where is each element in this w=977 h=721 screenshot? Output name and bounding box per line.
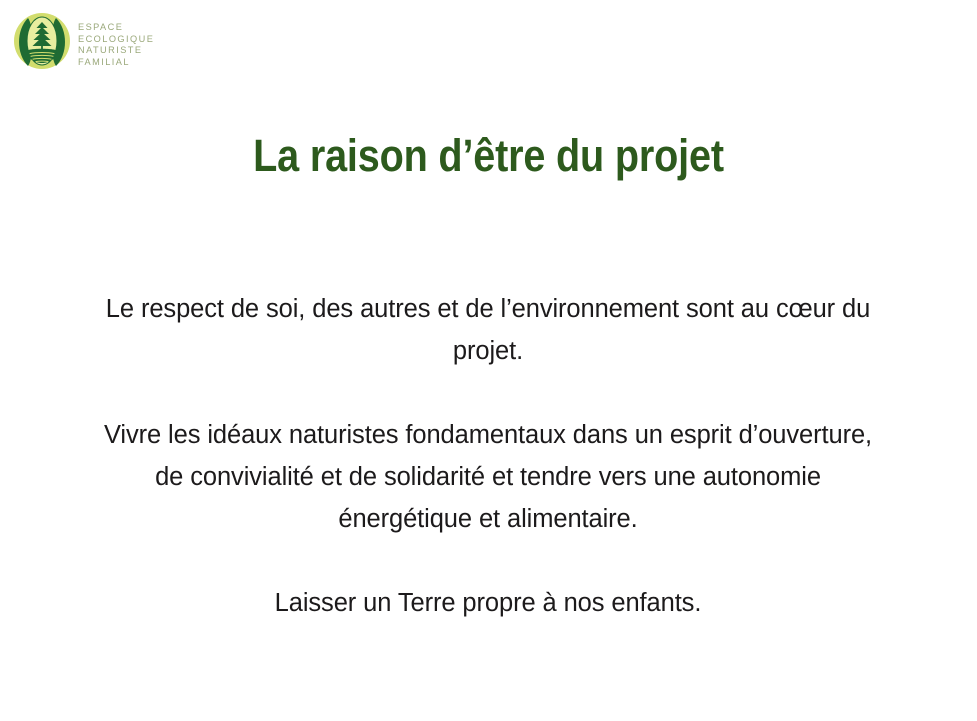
logo-emblem-icon: [12, 10, 72, 72]
body-paragraph-2: Vivre les idéaux naturistes fondamentaux…: [88, 414, 888, 540]
logo-wordmark: ESPACE ECOLOGIQUE NATURISTE FAMILIAL: [78, 22, 198, 68]
logo-wordmark-line-4: FAMILIAL: [78, 57, 198, 69]
logo-wordmark-line-1: ESPACE: [78, 22, 198, 34]
page-title: La raison d’être du projet: [59, 130, 919, 182]
slide-canvas: ESPACE ECOLOGIQUE NATURISTE FAMILIAL La …: [0, 0, 977, 721]
body-paragraph-3: Laisser un Terre propre à nos enfants.: [88, 582, 888, 624]
body-paragraph-1: Le respect de soi, des autres et de l’en…: [88, 288, 888, 372]
logo-block: ESPACE ECOLOGIQUE NATURISTE FAMILIAL: [8, 6, 208, 82]
body-content: Le respect de soi, des autres et de l’en…: [88, 288, 888, 624]
logo-wordmark-line-2: ECOLOGIQUE: [78, 34, 198, 46]
logo-wordmark-line-3: NATURISTE: [78, 45, 198, 57]
